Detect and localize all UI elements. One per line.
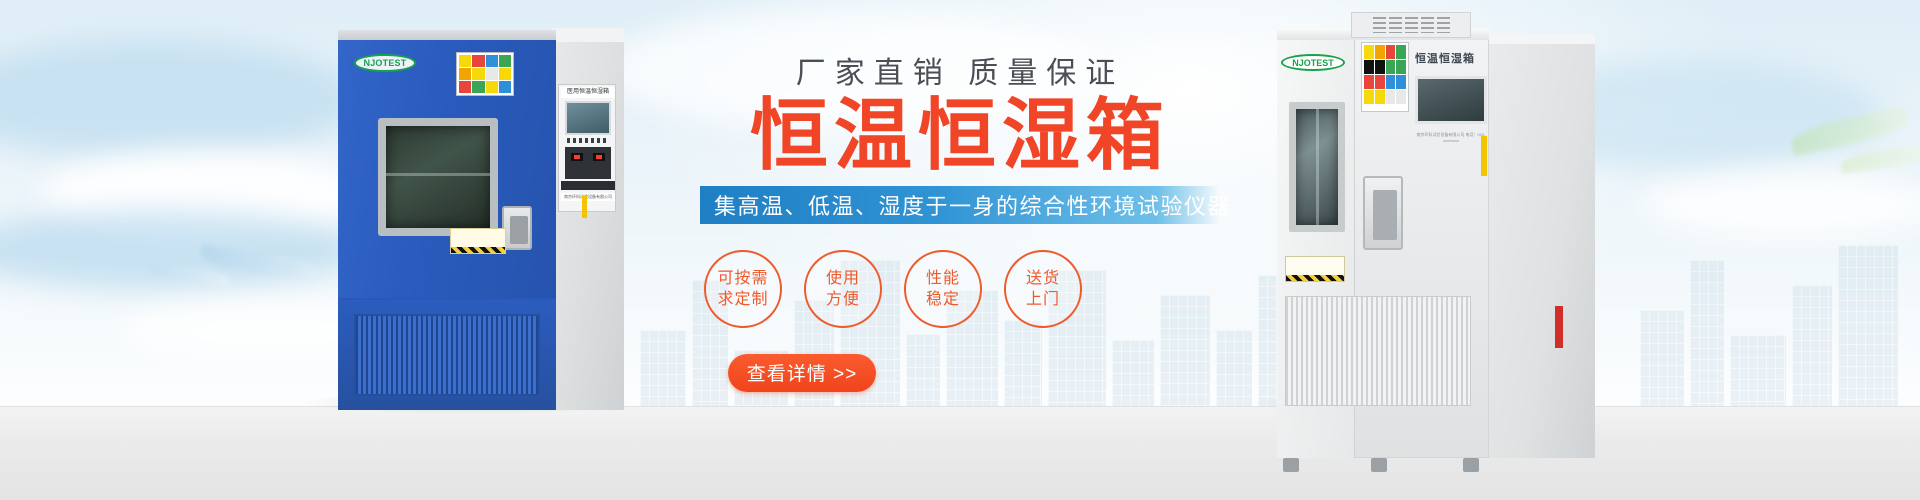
cta-wrapper: 查看详情 >>	[700, 354, 1220, 392]
feature-circle-delivery[interactable]: 送货 上门	[1004, 250, 1082, 328]
banner-headline: 恒温恒湿箱	[700, 96, 1220, 176]
brand-logo-right: NJOTEST	[1281, 54, 1345, 71]
control-panel-company-left: 南京环科试验设备有限公司	[561, 193, 615, 201]
brand-logo-left: NJOTEST	[354, 54, 416, 72]
feature-circle-stable[interactable]: 性能 稳定	[904, 250, 982, 328]
feature-line-1: 送货	[1026, 268, 1060, 289]
feature-line-1: 性能	[926, 268, 960, 289]
chamber-left-top-edge	[338, 30, 556, 40]
feature-circle-easy-use[interactable]: 使用 方便	[804, 250, 882, 328]
chamber-right-display-screen[interactable]	[1415, 76, 1487, 124]
control-panel-footer-bar	[561, 181, 615, 190]
feature-line-2: 稳定	[926, 289, 960, 310]
feature-line-2: 上门	[1026, 289, 1060, 310]
feature-line-1: 可按需	[717, 268, 768, 289]
warning-label-icon-right	[1361, 42, 1409, 112]
view-details-button[interactable]: 查看详情 >>	[728, 354, 876, 392]
chamber-right-viewing-window	[1289, 102, 1345, 232]
skyline-decoration-right	[1640, 230, 1920, 430]
chamber-right-rear-top	[1483, 34, 1595, 44]
chamber-right-rear-body	[1483, 40, 1595, 458]
yellow-strip-left	[582, 196, 587, 218]
feature-circle-custom[interactable]: 可按需 求定制	[704, 250, 782, 328]
banner-subtitle-text: 集高温、低温、湿度于一身的综合性环境试验仪器	[714, 189, 1231, 221]
banner-subtitle-bar: 集高温、低温、湿度于一身的综合性环境试验仪器	[700, 186, 1220, 224]
control-panel-indicator-row	[567, 138, 609, 143]
chamber-left-side-top	[552, 28, 624, 42]
warning-label-icon	[456, 52, 514, 96]
chamber-right-legs	[1277, 458, 1489, 474]
promo-banner: NJOTEST 医用恒温恒湿箱 南京环科试验设备有限公司	[0, 0, 1920, 500]
product-image-right: NJOTEST 恒温恒湿箱 南京环科试验设备有限公司 电话：025-xxxxxx…	[1255, 6, 1595, 476]
chamber-right-door-handle[interactable]	[1363, 176, 1403, 250]
feature-line-1: 使用	[826, 268, 860, 289]
chamber-right-nameplate: 恒温恒湿箱	[1415, 50, 1485, 66]
control-panel-screen-left[interactable]	[565, 101, 611, 135]
product-image-left: NJOTEST 医用恒温恒湿箱 南京环科试验设备有限公司	[300, 28, 630, 410]
banner-copy-block: 厂家直销 质量保证 恒温恒湿箱 集高温、低温、湿度于一身的综合性环境试验仪器 可…	[700, 48, 1220, 392]
banner-tagline: 厂家直销 质量保证	[700, 48, 1220, 92]
chamber-right-vent-grille	[1285, 296, 1471, 406]
chamber-right-company-text: 南京环科试验设备有限公司 电话：025-xxxxxxxx	[1415, 132, 1487, 144]
chamber-left-viewing-window	[378, 118, 498, 236]
yellow-strip-right	[1481, 136, 1487, 176]
ground-band	[0, 406, 1920, 500]
chamber-left-caution-tag	[450, 228, 506, 254]
chamber-left-door-handle[interactable]	[502, 206, 532, 250]
chamber-right-caution-tag	[1285, 256, 1345, 282]
feature-line-2: 求定制	[717, 289, 768, 310]
chamber-left-vent-grille	[354, 314, 540, 396]
chamber-left-control-panel[interactable]: 医用恒温恒湿箱 南京环科试验设备有限公司	[558, 84, 616, 212]
control-panel-title-left: 医用恒温恒湿箱	[561, 87, 615, 98]
feature-line-2: 方便	[826, 289, 860, 310]
red-strip-right	[1555, 306, 1563, 348]
feature-circle-list: 可按需 求定制 使用 方便 性能 稳定 送货 上门	[700, 250, 1220, 328]
chamber-right-louver-vent	[1351, 12, 1471, 38]
control-panel-keypad-left[interactable]	[565, 147, 611, 179]
